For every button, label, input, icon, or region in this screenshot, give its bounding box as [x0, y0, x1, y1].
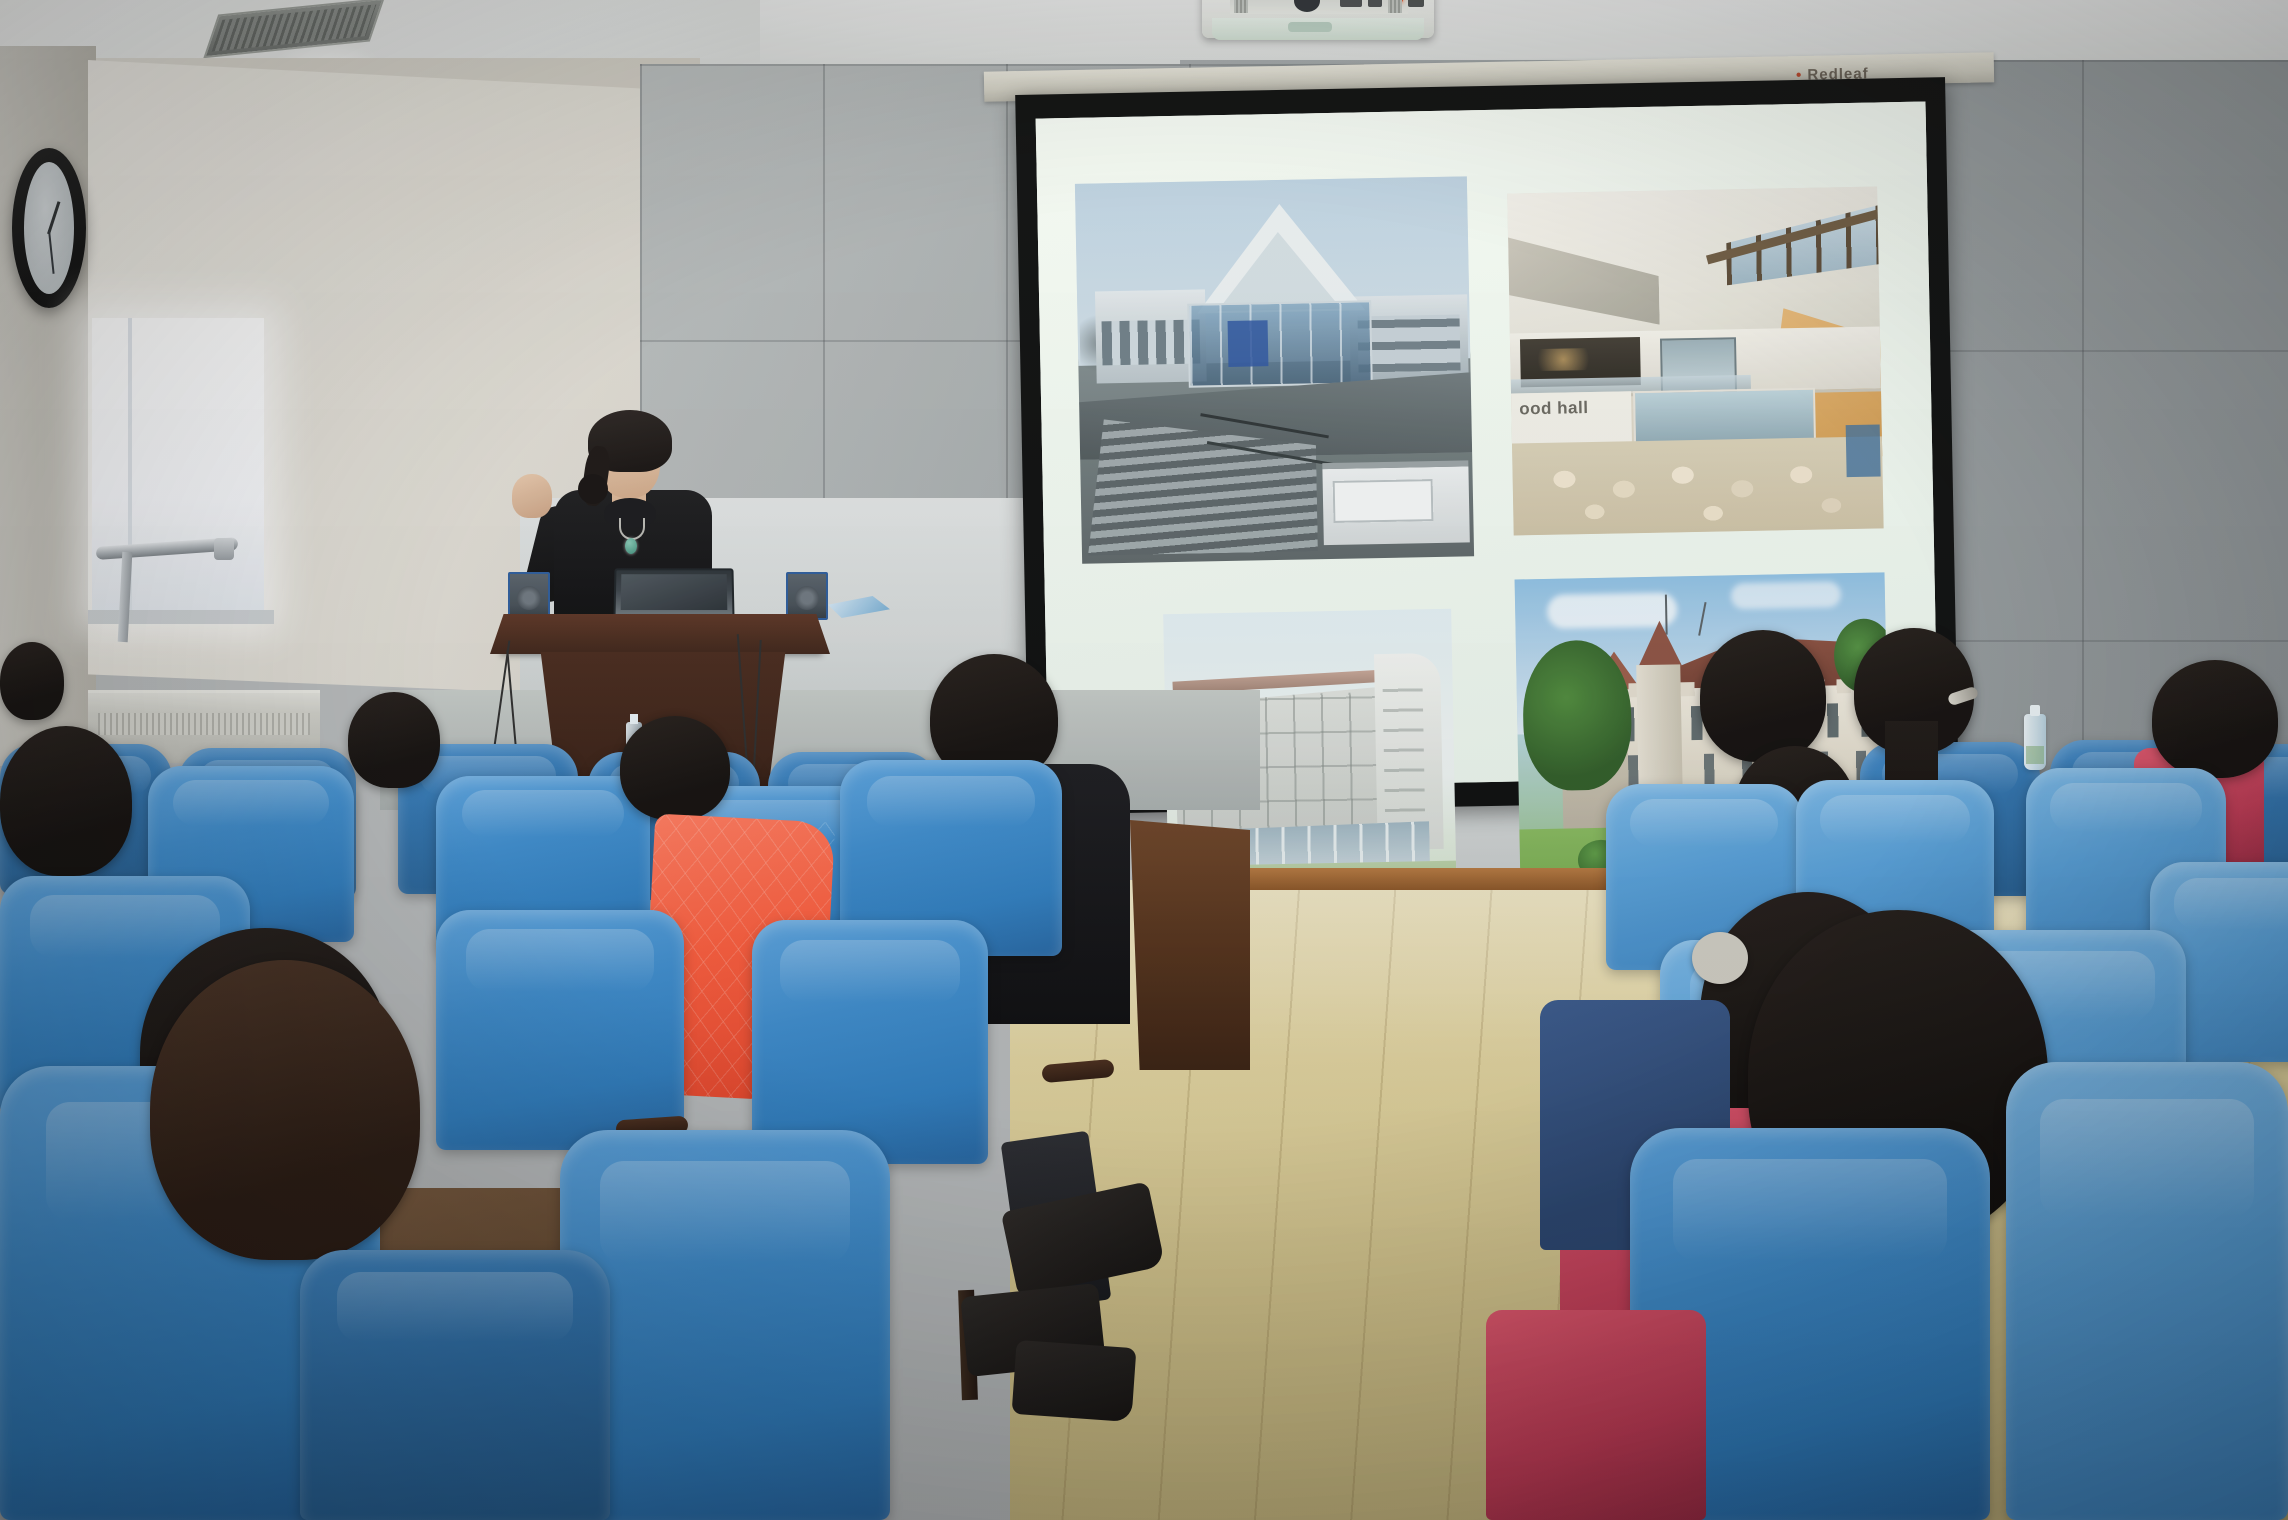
photo1-shopfront [1322, 460, 1470, 545]
seat[interactable] [2006, 1062, 2288, 1520]
audience-head [2152, 660, 2278, 778]
photo1-gable-inner [1216, 231, 1341, 311]
projector-port-vga [1340, 0, 1362, 7]
audience-head [0, 642, 64, 720]
handrail-bracket [214, 538, 234, 560]
photo1-glass-atrium [1187, 300, 1373, 388]
audience-coat [1486, 1310, 1706, 1520]
projector-port-lan [1408, 0, 1424, 7]
projector-port-panel [1230, 0, 1408, 14]
presenter-hand [512, 474, 552, 518]
slide-photo-top-left: Modern school building with gabled glass… [1075, 176, 1474, 563]
projector-vent-icon [1234, 0, 1248, 13]
flower-hairpin-icon [1692, 932, 1748, 984]
photo2-dining-furniture [1512, 436, 1884, 535]
presenter-pendant-icon [625, 538, 637, 554]
projector-lens-knob [1294, 0, 1320, 12]
seat[interactable] [752, 920, 988, 1164]
presenter-hair-bun [578, 474, 608, 504]
projector-lens-icon [1288, 22, 1332, 32]
desktop-speaker-left [508, 572, 550, 620]
water-bottle [2024, 714, 2046, 770]
photo2-signage-text: ood hall [1519, 398, 1589, 419]
laptop[interactable] [613, 568, 734, 618]
projector-port-hdmi [1368, 0, 1382, 7]
photo4-turret [1636, 664, 1682, 793]
audience-head [0, 726, 132, 876]
desktop-speaker-right [786, 572, 828, 620]
projector-vent-icon-2 [1388, 0, 1402, 13]
photo4-turret-roof [1637, 620, 1682, 667]
photo3-stair-tower [1374, 653, 1444, 850]
window [92, 318, 264, 618]
podium-top [490, 614, 830, 654]
ceiling-projector[interactable] [1202, 0, 1434, 38]
seat[interactable] [300, 1250, 610, 1520]
audience-head [620, 716, 730, 820]
slide-photo-top-right: ood hall Food hall interior with clerest… [1507, 186, 1883, 535]
audience-head [150, 960, 420, 1260]
lecture-hall-scene: 12:32 • Redleaf [0, 0, 2288, 1520]
photo2-blue-panel [1846, 424, 1881, 477]
seat[interactable] [436, 910, 684, 1150]
audience-head [348, 692, 440, 788]
photo4-cloud-2 [1731, 581, 1841, 609]
side-table [1130, 820, 1250, 1070]
photo1-blue-signage [1228, 320, 1269, 367]
boot-3 [1012, 1340, 1137, 1422]
wall-clock: 12:32 [12, 148, 86, 308]
audience-head [1700, 630, 1826, 762]
window-sill [88, 610, 274, 624]
